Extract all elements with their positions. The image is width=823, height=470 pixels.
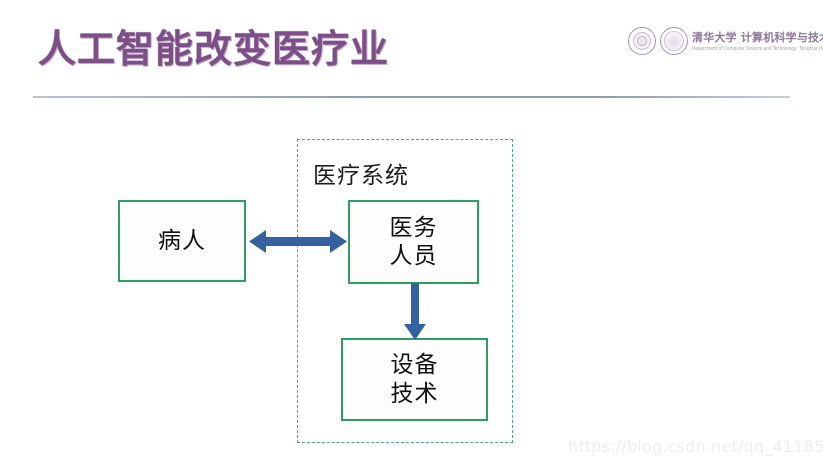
diagram-arrow-patient-staff bbox=[249, 226, 347, 257]
diagram-node-equipment[interactable]: 设备 技术 bbox=[341, 338, 488, 421]
diagram-node-equipment-label: 设备 技术 bbox=[391, 351, 439, 407]
diagram-node-staff[interactable]: 医务 人员 bbox=[348, 200, 479, 284]
diagram-node-patient-label: 病人 bbox=[158, 227, 206, 255]
diagram-node-patient[interactable]: 病人 bbox=[118, 200, 246, 282]
slide-canvas: 人工智能改变医疗业 清华大学 计算机科学与技术系 Department of C… bbox=[0, 0, 823, 470]
diagram-group-label: 医疗系统 bbox=[313, 156, 409, 190]
diagram-node-staff-label: 医务 人员 bbox=[390, 214, 438, 270]
diagram: 医疗系统 病人 医务 人员 设备 技术 bbox=[0, 0, 823, 470]
watermark: https://blog.csdn.net/qq_41185868 bbox=[568, 437, 823, 456]
diagram-arrow-staff-equipment bbox=[400, 283, 430, 341]
